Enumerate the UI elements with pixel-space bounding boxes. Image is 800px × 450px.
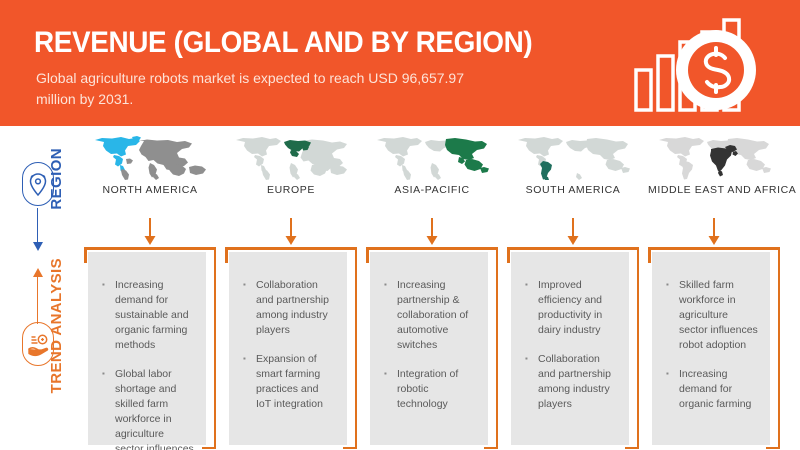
bracket-frame-north-america: Increasing demand for sustainable and or… — [84, 247, 216, 449]
content-card-asia-pacific: Increasing partnership & collaboration o… — [370, 252, 488, 445]
bullet-list-asia-pacific: Increasing partnership & collaboration o… — [370, 252, 488, 412]
header-subtitle: Global agriculture robots market is expe… — [36, 68, 506, 110]
region-arrow-down — [33, 208, 43, 250]
list-item: Increasing demand for sustainable and or… — [102, 278, 194, 353]
bracket-frame-asia-pacific: Increasing partnership & collaboration o… — [366, 247, 498, 449]
bullet-list-europe: Collaboration and partnership among indu… — [229, 252, 347, 412]
arrow-down-north-america — [145, 218, 156, 250]
list-item: Global labor shortage and skilled farm w… — [102, 367, 194, 450]
content-card-europe: Collaboration and partnership among indu… — [229, 252, 347, 445]
region-name-middle-east-africa: MIDDLE EAST AND AFRICA — [648, 184, 780, 196]
region-name-asia-pacific: ASIA-PACIFIC — [366, 184, 498, 196]
bracket-frame-europe: Collaboration and partnership among indu… — [225, 247, 357, 449]
list-item: Increasing partnership & collaboration o… — [384, 278, 476, 353]
list-item: Skilled farm workforce in agriculture se… — [666, 278, 758, 353]
region-name-north-america: NORTH AMERICA — [84, 184, 216, 196]
list-item: Integration of robotic technology — [384, 367, 476, 412]
bracket-frame-south-america: Improved efficiency and productivity in … — [507, 247, 639, 449]
column-europe: EUROPE Collaboration and partnership amo… — [225, 134, 357, 182]
arrow-down-europe — [286, 218, 297, 250]
infographic-root: REVENUE (GLOBAL AND BY REGION) Global ag… — [0, 0, 800, 450]
arrow-down-middle-east-africa — [709, 218, 720, 250]
world-map-south-america-highlighted — [507, 134, 639, 182]
column-middle-east-africa: MIDDLE EAST AND AFRICA Skilled farm work… — [648, 134, 780, 182]
list-item: Collaboration and partnership among indu… — [243, 278, 335, 338]
list-item: Expansion of smart farming practices and… — [243, 352, 335, 412]
rail-label-trend-analysis: TREND ANALYSIS — [48, 258, 65, 393]
page-title: REVENUE (GLOBAL AND BY REGION) — [34, 26, 532, 60]
region-name-south-america: SOUTH AMERICA — [507, 184, 639, 196]
content-card-north-america: Increasing demand for sustainable and or… — [88, 252, 206, 445]
world-map-north-america-highlighted — [84, 134, 216, 182]
arrow-down-asia-pacific — [427, 218, 438, 250]
list-item: Increasing demand for organic farming — [666, 367, 758, 412]
column-south-america: SOUTH AMERICA Improved efficiency and pr… — [507, 134, 639, 182]
column-north-america: NORTH AMERICA Increasing demand for sust… — [84, 134, 216, 182]
world-map-asia-pacific-highlighted — [366, 134, 498, 182]
bullet-list-south-america: Improved efficiency and productivity in … — [511, 252, 629, 412]
bar-chart-dollar-icon — [628, 14, 788, 118]
bullet-list-middle-east-africa: Skilled farm workforce in agriculture se… — [652, 252, 770, 412]
list-item: Collaboration and partnership among indu… — [525, 352, 617, 412]
world-map-middle-east-africa-highlighted — [648, 134, 780, 182]
world-map-europe-highlighted — [225, 134, 357, 182]
list-item: Improved efficiency and productivity in … — [525, 278, 617, 338]
rail-label-region: REGION — [48, 148, 65, 210]
content-card-south-america: Improved efficiency and productivity in … — [511, 252, 629, 445]
arrow-down-south-america — [568, 218, 579, 250]
bullet-list-north-america: Increasing demand for sustainable and or… — [88, 252, 206, 450]
column-asia-pacific: ASIA-PACIFIC Increasing partnership & co… — [366, 134, 498, 182]
bracket-frame-middle-east-africa: Skilled farm workforce in agriculture se… — [648, 247, 780, 449]
trend-arrow-up — [33, 268, 43, 324]
header-banner: REVENUE (GLOBAL AND BY REGION) Global ag… — [0, 0, 800, 126]
region-name-europe: EUROPE — [225, 184, 357, 196]
content-card-middle-east-africa: Skilled farm workforce in agriculture se… — [652, 252, 770, 445]
